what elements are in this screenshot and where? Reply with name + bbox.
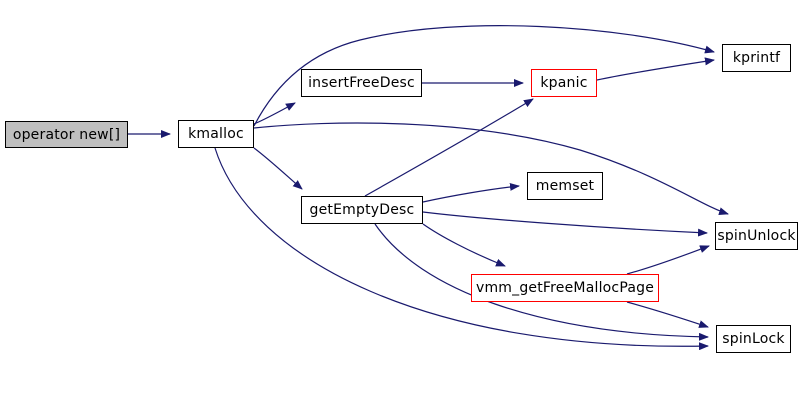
graph-node-kmalloc[interactable]: kmalloc xyxy=(178,120,254,148)
graph-edge-vmm_getFreeMallocPage-to-spinLock xyxy=(627,302,708,327)
graph-node-label: spinLock xyxy=(722,332,784,346)
graph-edge-kpanic-to-kprintf xyxy=(597,60,714,80)
graph-node-label: insertFreeDesc xyxy=(308,76,415,90)
graph-edge-getEmptyDesc-to-memset xyxy=(423,186,519,202)
graph-node-spinLock[interactable]: spinLock xyxy=(716,325,791,353)
graph-node-label: kmalloc xyxy=(188,127,244,141)
graph-node-kprintf[interactable]: kprintf xyxy=(722,44,791,72)
graph-node-getEmptyDesc[interactable]: getEmptyDesc xyxy=(301,196,423,224)
graph-node-label: getEmptyDesc xyxy=(310,203,415,217)
graph-node-label: operator new[] xyxy=(13,128,120,142)
graph-node-memset[interactable]: memset xyxy=(527,172,603,200)
graph-node-label: memset xyxy=(536,179,595,193)
graph-edge-kmalloc-to-insertFreeDesc xyxy=(254,103,295,124)
graph-node-label: vmm_getFreeMallocPage xyxy=(476,281,654,295)
graph-node-vmm_getFreeMallocPage[interactable]: vmm_getFreeMallocPage xyxy=(471,274,659,302)
graph-node-operator-new-array[interactable]: operator new[] xyxy=(5,121,128,148)
graph-node-label: spinUnlock xyxy=(717,229,795,243)
graph-edge-getEmptyDesc-to-kpanic xyxy=(365,99,533,196)
graph-edge-vmm_getFreeMallocPage-to-spinUnlock xyxy=(627,246,709,274)
graph-edge-getEmptyDesc-to-spinUnlock xyxy=(423,212,707,233)
graph-node-kpanic[interactable]: kpanic xyxy=(531,69,597,97)
graph-node-spinUnlock[interactable]: spinUnlock xyxy=(715,222,798,250)
graph-node-insertFreeDesc[interactable]: insertFreeDesc xyxy=(301,69,422,97)
graph-node-label: kpanic xyxy=(540,76,587,90)
graph-edge-getEmptyDesc-to-vmm_getFreeMallocPage xyxy=(423,224,505,266)
call-graph-canvas: operator new[]kmallocinsertFreeDesckpani… xyxy=(0,0,808,407)
graph-node-label: kprintf xyxy=(733,51,780,65)
graph-edge-kmalloc-to-getEmptyDesc xyxy=(254,148,302,189)
